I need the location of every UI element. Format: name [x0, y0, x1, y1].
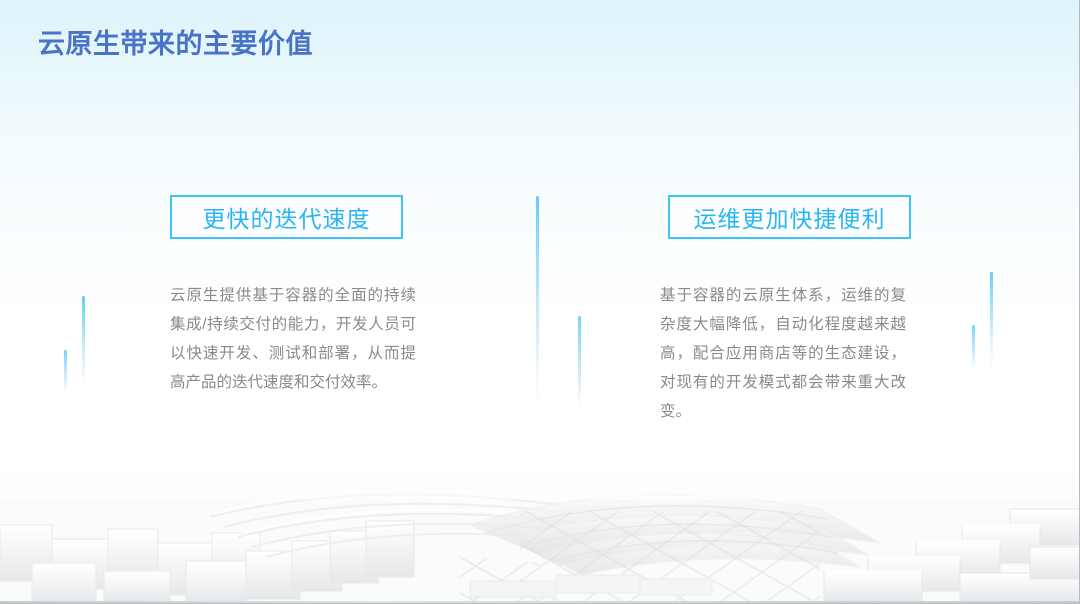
- accent-line-left-inner: [82, 296, 85, 392]
- accent-line-right-inner: [990, 272, 993, 372]
- accent-line-right-outer: [972, 325, 975, 373]
- card-heading-box-2: 运维更加快捷便利: [668, 195, 911, 239]
- accent-line-mid-inner: [578, 316, 581, 414]
- card-heading-label-1: 更快的迭代速度: [203, 200, 371, 234]
- slide-canvas: 云原生带来的主要价值 更快的迭代速度 云原生提供基于容器的全面的持续集成/持续交…: [0, 0, 1080, 604]
- accent-line-left-outer: [64, 350, 67, 396]
- page-title: 云原生带来的主要价值: [38, 22, 313, 61]
- midground-haze: [0, 300, 1079, 500]
- accent-line-mid-outer: [536, 196, 539, 412]
- background-scenery: [0, 413, 1079, 603]
- card-body-text-1: 云原生提供基于容器的全面的持续集成/持续交付的能力，开发人员可以快速开发、测试和…: [170, 281, 416, 397]
- bottom-edge-rule: [0, 601, 1079, 603]
- card-heading-box-1: 更快的迭代速度: [170, 195, 403, 239]
- scenery-fade: [0, 413, 1079, 483]
- card-heading-label-2: 运维更加快捷便利: [694, 200, 886, 234]
- card-body-text-2: 基于容器的云原生体系，运维的复杂度大幅降低，自动化程度越来越高，配合应用商店等的…: [660, 281, 906, 426]
